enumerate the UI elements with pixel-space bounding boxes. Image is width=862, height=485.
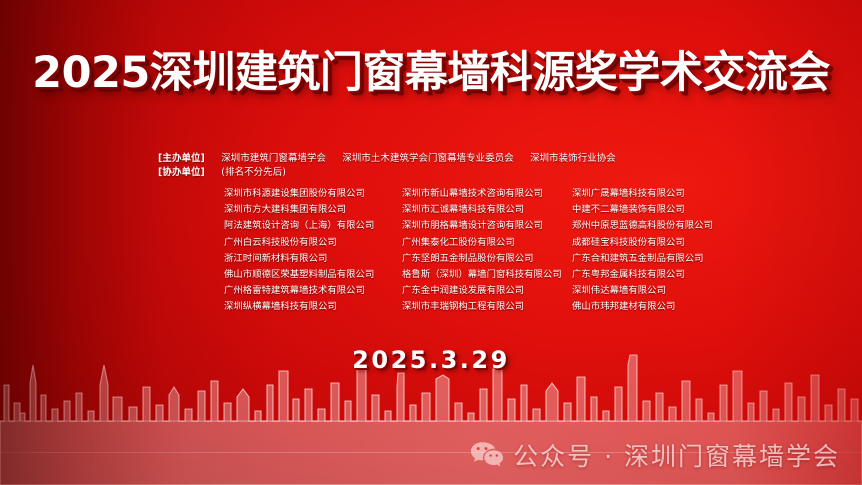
sponsor-company-r5-c0: 佛山市顺德区荣基塑料制品有限公司 <box>224 267 402 283</box>
host-organizer-row: [主办单位] 深圳市建筑门窗幕墙学会 深圳市土木建筑学会门窗幕墙专业委员会 深圳… <box>158 152 616 166</box>
sponsor-company-r3-c0: 广州白云科技股份有限公司 <box>224 235 402 251</box>
sponsor-company-r7-c2: 佛山市玮邦建材有限公司 <box>572 299 713 315</box>
event-date: 2025.3.29 <box>0 346 862 374</box>
sponsor-company-r5-c1: 格鲁斯（深圳）幕墙门窗科技有限公司 <box>402 267 572 283</box>
sponsor-company-r2-c1: 深圳市朋格幕墙设计咨询有限公司 <box>402 218 572 234</box>
sponsor-company-r6-c0: 广州格雷特建筑幕墙技术有限公司 <box>224 283 402 299</box>
page-title: 2025深圳建筑门窗幕墙科源奖学术交流会 <box>32 52 830 96</box>
poster-canvas: 2025深圳建筑门窗幕墙科源奖学术交流会 [主办单位] 深圳市建筑门窗幕墙学会 … <box>0 0 862 485</box>
sponsor-company-r0-c1: 深圳市新山幕墙技术咨询有限公司 <box>402 186 572 202</box>
sponsor-company-r2-c2: 郑州中原思蓝德高科股份有限公司 <box>572 218 713 234</box>
sponsor-company-r6-c2: 深圳伟达幕墙有限公司 <box>572 283 713 299</box>
sponsor-company-r4-c2: 广东合和建筑五金制品有限公司 <box>572 251 713 267</box>
sponsor-company-r3-c2: 成都硅宝科技股份有限公司 <box>572 235 713 251</box>
host-organizer-item-2: 深圳市装饰行业协会 <box>530 153 616 164</box>
sponsor-company-r7-c0: 深圳纵横幕墙科技有限公司 <box>224 299 402 315</box>
sponsor-company-r6-c1: 广东金中润建设发展有限公司 <box>402 283 572 299</box>
sponsor-company-r7-c1: 深圳市丰瑞钢构工程有限公司 <box>402 299 572 315</box>
wechat-icon <box>470 441 504 469</box>
co-organizer-label: [协办单位] <box>158 167 205 178</box>
host-organizer-item-1: 深圳市土木建筑学会门窗幕墙专业委员会 <box>342 153 513 164</box>
watermark: 公众号 · 深圳门窗幕墙学会 <box>470 437 840 473</box>
host-organizer-item-0: 深圳市建筑门窗幕墙学会 <box>221 153 326 164</box>
sponsor-company-r2-c0: 阿法建筑设计咨询（上海）有限公司 <box>224 218 402 234</box>
sponsor-company-r1-c0: 深圳市方大建科集团有限公司 <box>224 202 402 218</box>
sponsor-company-r3-c1: 广州集泰化工股份有限公司 <box>402 235 572 251</box>
watermark-text: 公众号 · 深圳门窗幕墙学会 <box>513 437 840 473</box>
host-organizer-label: [主办单位] <box>158 153 205 164</box>
sponsor-company-r1-c1: 深圳市汇诚幕墙科技有限公司 <box>402 202 572 218</box>
sponsor-company-r0-c0: 深圳市科源建设集团股份有限公司 <box>224 186 402 202</box>
title-container: 2025深圳建筑门窗幕墙科源奖学术交流会 <box>0 52 862 96</box>
sponsor-company-r1-c2: 中建不二幕墙装饰有限公司 <box>572 202 713 218</box>
co-organizer-company-grid: 深圳市科源建设集团股份有限公司深圳市新山幕墙技术咨询有限公司深圳广晟幕墙科技有限… <box>224 186 694 316</box>
organizer-block: [主办单位] 深圳市建筑门窗幕墙学会 深圳市土木建筑学会门窗幕墙专业委员会 深圳… <box>158 152 616 180</box>
co-organizer-row: [协办单位] (排名不分先后) <box>158 166 616 180</box>
sponsor-company-r0-c2: 深圳广晟幕墙科技有限公司 <box>572 186 713 202</box>
sponsor-company-r4-c1: 广东坚朗五金制品股份有限公司 <box>402 251 572 267</box>
sponsor-company-r5-c2: 广东粤邦金属科技有限公司 <box>572 267 713 283</box>
sponsor-company-r4-c0: 浙江时间新材料有限公司 <box>224 251 402 267</box>
co-organizer-note: (排名不分先后) <box>221 167 286 178</box>
